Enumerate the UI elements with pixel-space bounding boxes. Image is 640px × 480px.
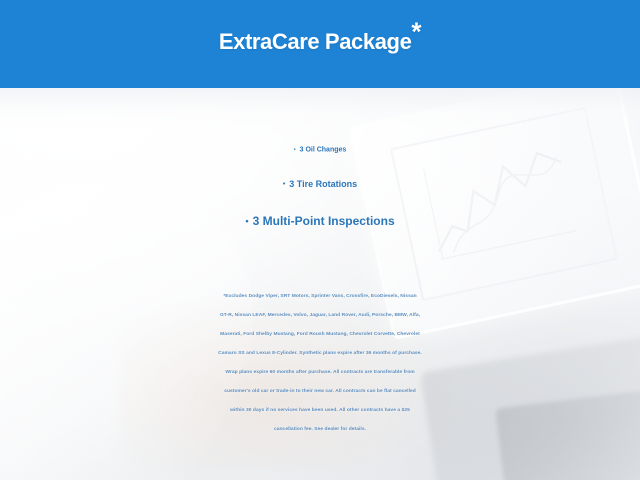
disclaimer-line: cancellation fee. See dealer for details… <box>24 420 616 439</box>
disclaimer-line: Camaro SS and Lexus 8-Cylinder. Syntheti… <box>24 344 616 363</box>
page-title-text: ExtraCare Package <box>219 29 412 54</box>
page-title-asterisk: * <box>411 17 421 47</box>
list-item-label: 3 Tire Rotations <box>289 179 357 189</box>
disclaimer-line: Wrap plans expire 60 months after purcha… <box>24 363 616 382</box>
benefits-list: •3 Oil Changes •3 Tire Rotations •3 Mult… <box>0 134 640 240</box>
disclaimer-line: *Excludes Dodge Viper, SRT Motors, Sprin… <box>24 287 616 306</box>
bullet-dot-icon: • <box>245 216 248 226</box>
list-item: •3 Tire Rotations <box>0 167 640 202</box>
bullet-dot-icon: • <box>283 181 285 188</box>
bullet-dot-icon: • <box>294 147 296 153</box>
header-banner: ExtraCare Package* <box>0 0 640 88</box>
disclaimer-line: GT-R, Nissan LEAF, Mercedes, Volvo, Jagu… <box>24 306 616 325</box>
disclaimer-text: *Excludes Dodge Viper, SRT Motors, Sprin… <box>24 287 616 439</box>
extracare-package-ad: ExtraCare Package* •3 Oil Changes •3 Tir… <box>0 0 640 480</box>
page-title: ExtraCare Package* <box>0 16 640 68</box>
list-item: •3 Multi-Point Inspections <box>0 202 640 240</box>
list-item-label: 3 Multi-Point Inspections <box>253 214 395 228</box>
disclaimer-line: within 30 days if no services have been … <box>24 401 616 420</box>
disclaimer-line: customer's old car or trade-in to their … <box>24 382 616 401</box>
disclaimer-line: Maserati, Ford Shelby Mustang, Ford Rous… <box>24 325 616 344</box>
list-item: •3 Oil Changes <box>0 134 640 167</box>
list-item-label: 3 Oil Changes <box>300 147 347 154</box>
